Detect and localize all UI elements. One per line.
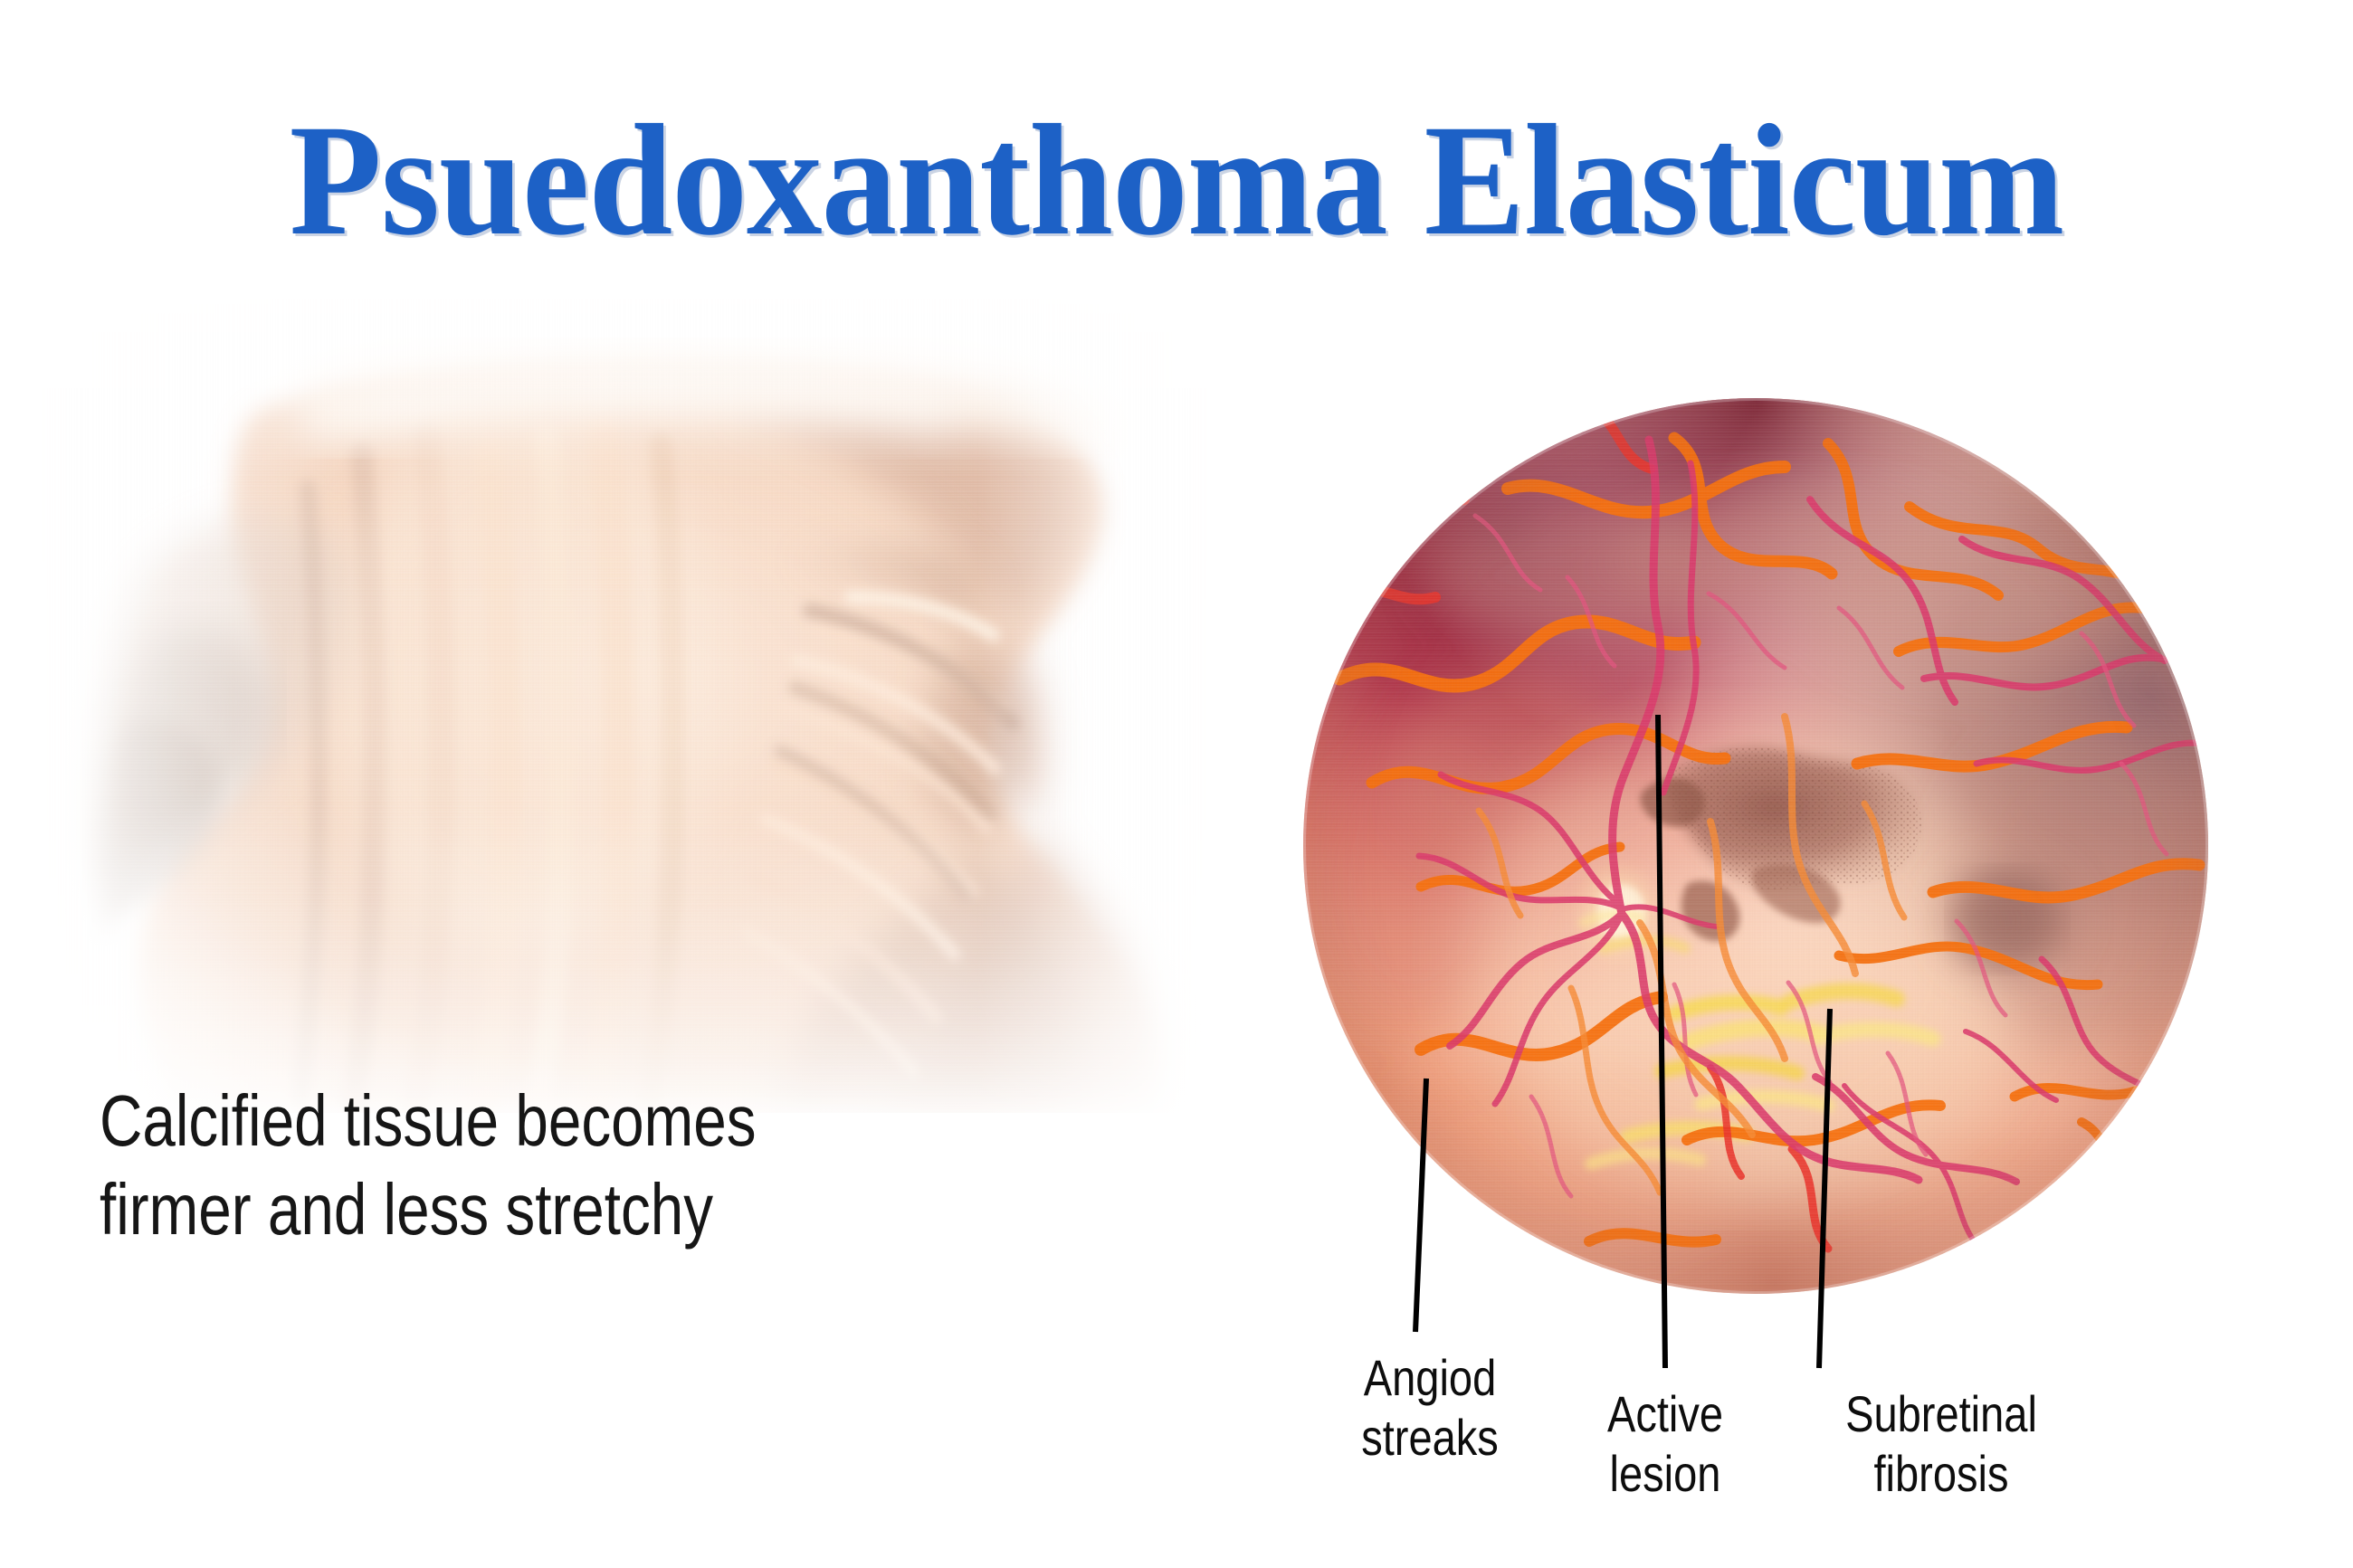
skin-illustration-svg: [36, 299, 1213, 1113]
calcified-skin-illustration: [36, 299, 1213, 1113]
skin-caption: Calcified tissue becomes firmer and less…: [100, 1077, 930, 1253]
retinal-fundus-illustration: [1285, 380, 2226, 1312]
fade-top: [36, 299, 1213, 1113]
fundus-globe: [1285, 380, 2226, 1312]
fundus-svg: [1285, 380, 2226, 1312]
label-subretinal-fibrosis: Subretinal fibrosis: [1758, 1384, 2123, 1504]
page-title: Psuedoxanthoma Elasticum: [59, 101, 2294, 261]
fundus-canvas-texture: [1285, 380, 2226, 1312]
